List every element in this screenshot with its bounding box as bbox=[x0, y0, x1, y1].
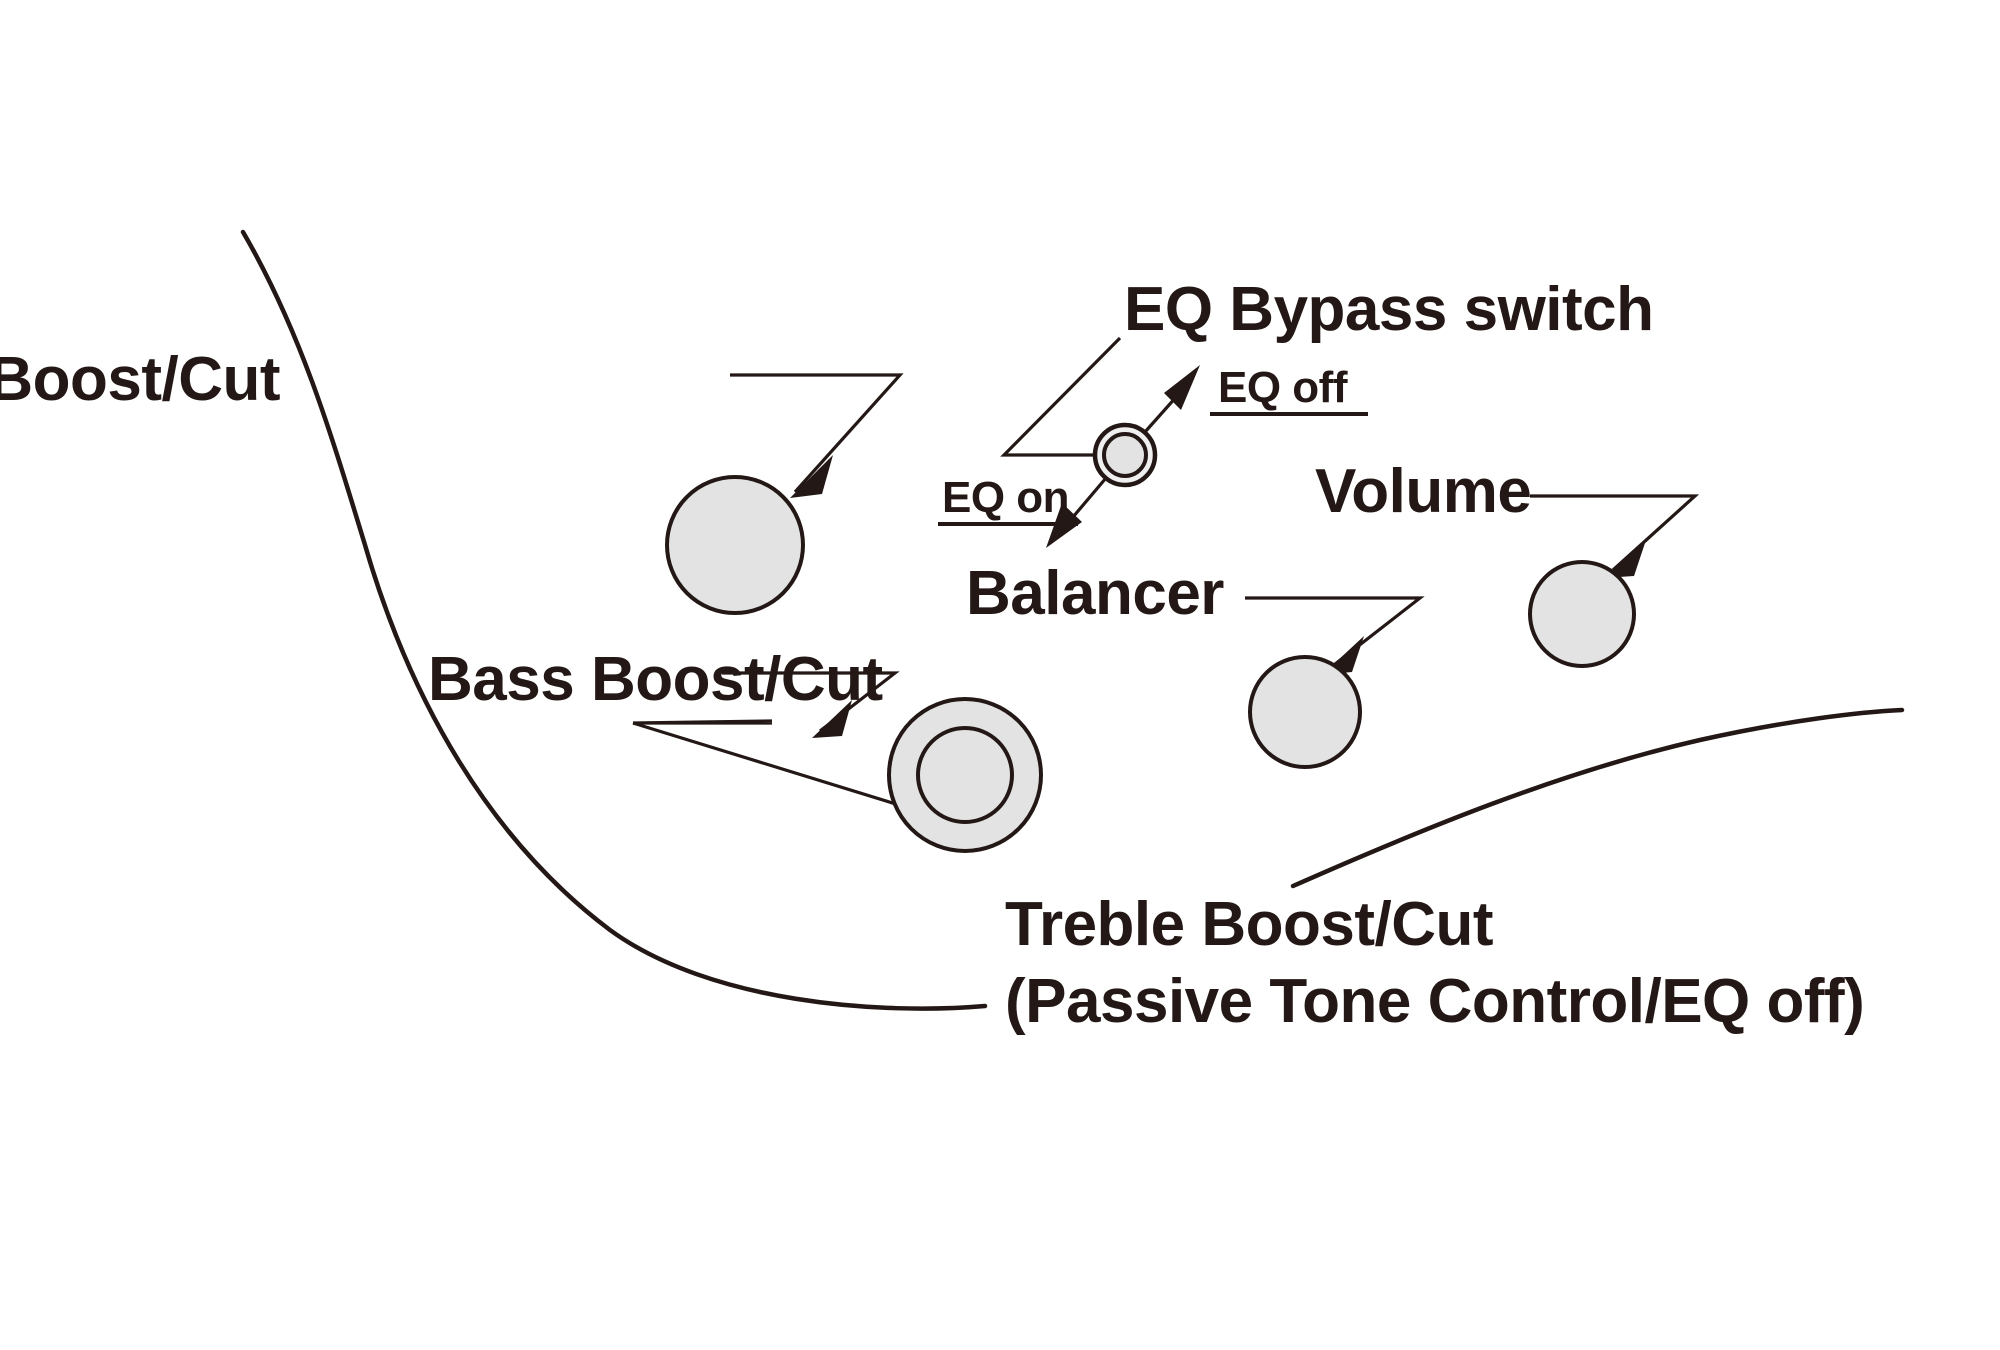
leader-line-treble-boost-cut bbox=[633, 721, 772, 723]
control-layout-diagram: Mid Boost/Cut EQ Bypass switch EQ off EQ… bbox=[0, 0, 2000, 1350]
leader-line-balancer bbox=[1245, 598, 1420, 668]
label-balancer: Balancer bbox=[966, 559, 1224, 628]
diagram-canvas: Mid Boost/Cut EQ Bypass switch EQ off EQ… bbox=[0, 0, 2000, 1350]
leader-line-volume bbox=[1530, 496, 1695, 570]
leader-line-treble-boost-cut-diagonal bbox=[633, 723, 925, 813]
label-bass-boost-cut: Bass Boost/Cut bbox=[428, 645, 883, 714]
mid-boost-cut-knob[interactable] bbox=[667, 477, 803, 613]
balancer-knob[interactable] bbox=[1250, 657, 1360, 767]
body-outline-left-curve bbox=[243, 232, 985, 1009]
label-treble-boost-cut-subtitle: (Passive Tone Control/EQ off) bbox=[1005, 967, 1864, 1036]
volume-knob[interactable] bbox=[1530, 562, 1634, 666]
label-eq-off: EQ off bbox=[1218, 363, 1348, 412]
treble-boost-cut-knob-inner[interactable] bbox=[918, 728, 1012, 822]
label-volume: Volume bbox=[1315, 457, 1531, 526]
label-mid-boost-cut: Mid Boost/Cut bbox=[0, 345, 280, 414]
label-eq-bypass-switch: EQ Bypass switch bbox=[1124, 275, 1654, 344]
label-eq-on: EQ on bbox=[942, 473, 1069, 522]
arrow-head-mid-boost-cut bbox=[790, 455, 833, 498]
eq-bypass-switch[interactable] bbox=[1104, 434, 1146, 476]
label-treble-boost-cut: Treble Boost/Cut bbox=[1005, 890, 1493, 959]
body-outline-right-curve bbox=[1293, 710, 1902, 886]
